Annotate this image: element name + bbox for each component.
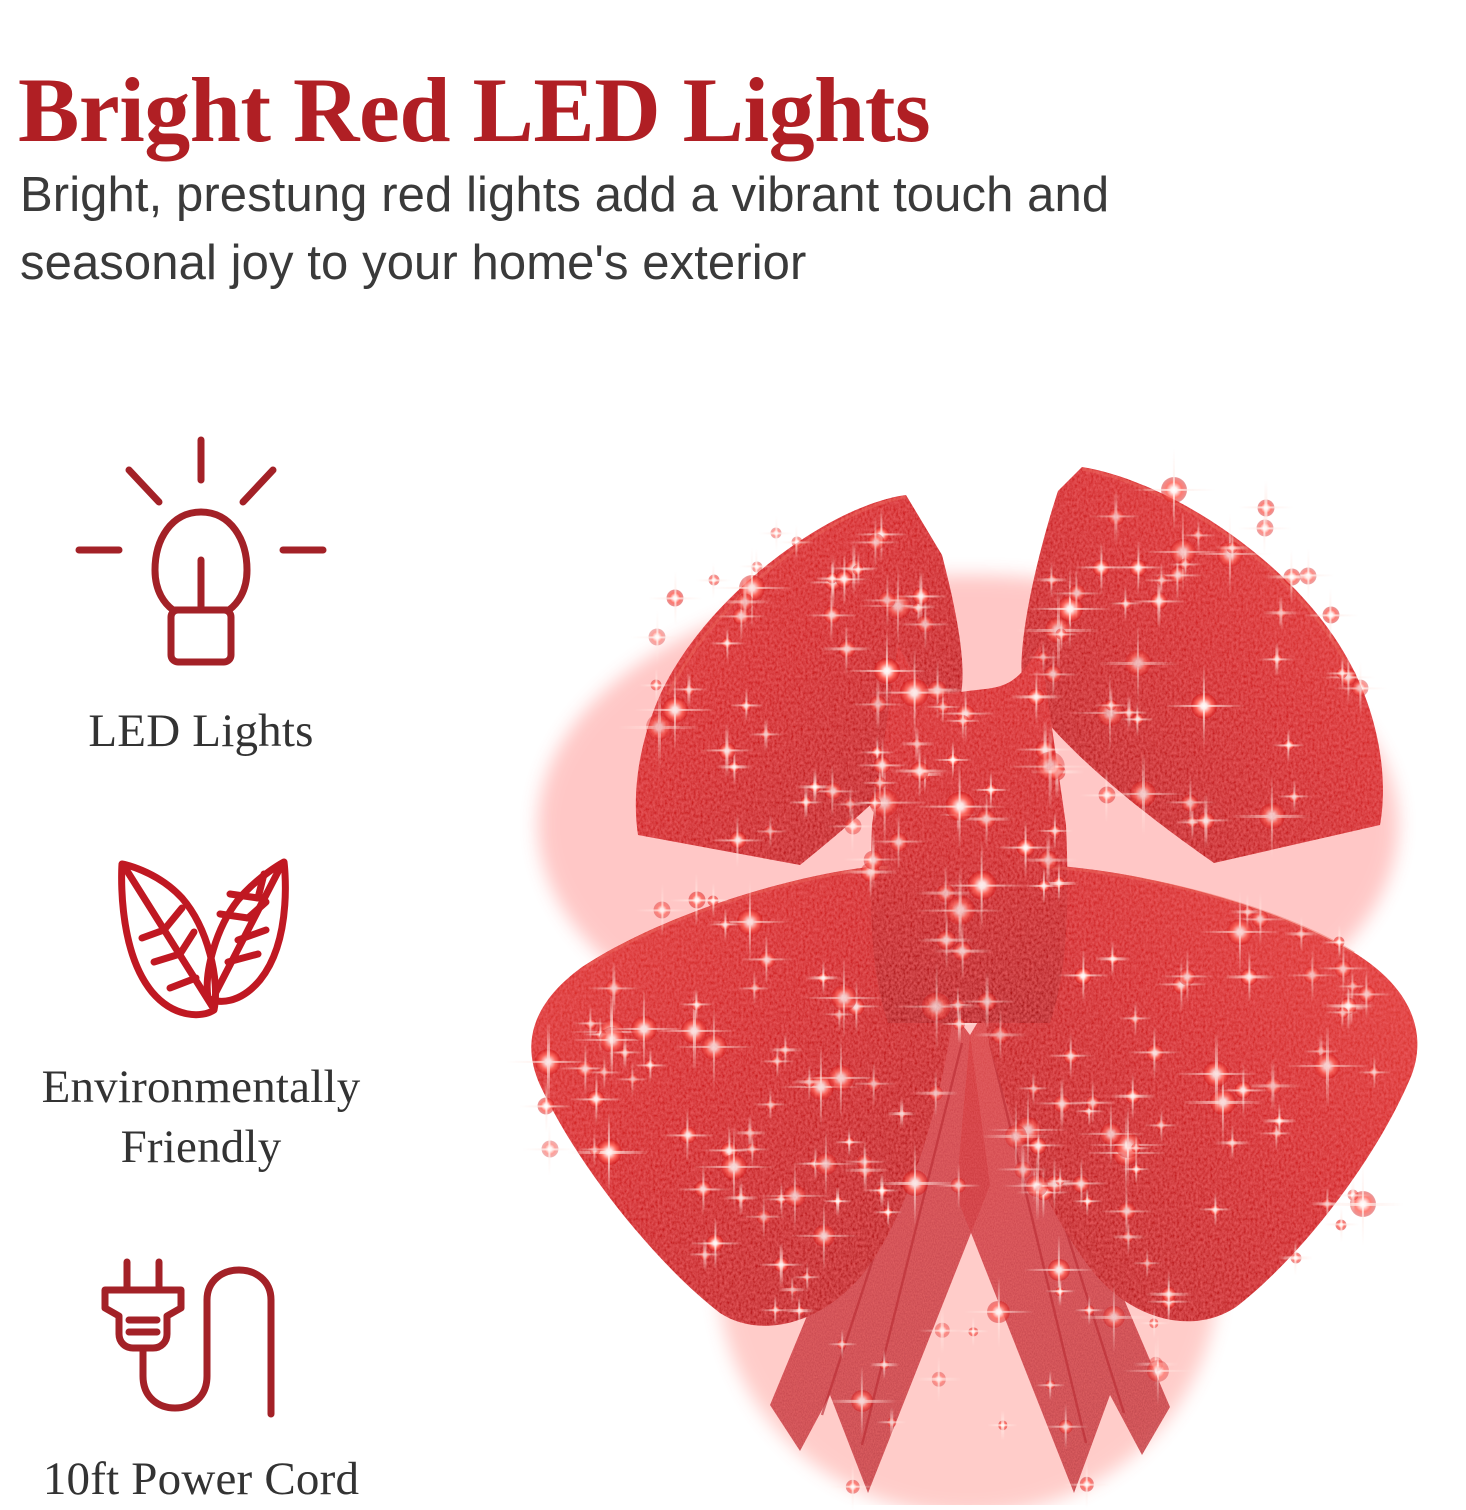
feature-power-cord-label: 10ft Power Cord bbox=[0, 1449, 402, 1509]
power-plug-cord-icon bbox=[0, 1258, 402, 1423]
feature-environmentally-friendly-label: Environmentally Friendly bbox=[0, 1057, 402, 1177]
subheadline-line-2: seasonal joy to your home's exterior bbox=[20, 230, 1350, 298]
feature-power-cord: 10ft Power Cord bbox=[0, 1258, 402, 1509]
page-subheadline: Bright, prestung red lights add a vibran… bbox=[20, 162, 1350, 297]
page-headline: Bright Red LED Lights bbox=[18, 64, 1318, 158]
feature-environmentally-friendly: Environmentally Friendly bbox=[0, 852, 402, 1177]
bow-illustration bbox=[470, 395, 1466, 1505]
product-image-lighted-bow bbox=[470, 395, 1466, 1505]
leaves-icon bbox=[0, 852, 402, 1027]
bow-knot bbox=[871, 645, 1068, 1023]
subheadline-line-1: Bright, prestung red lights add a vibran… bbox=[20, 162, 1350, 230]
led-bulb-icon bbox=[0, 432, 402, 677]
feature-led-lights: LED Lights bbox=[0, 432, 402, 761]
feature-led-lights-label: LED Lights bbox=[0, 701, 402, 761]
